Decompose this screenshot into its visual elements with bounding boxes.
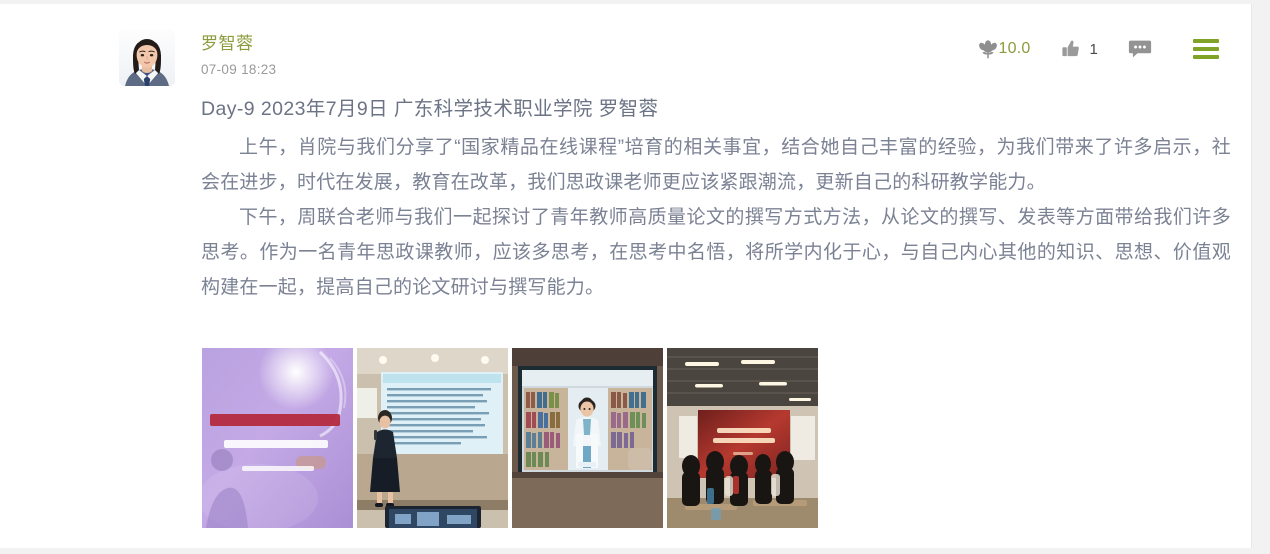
like-count: 1 bbox=[1089, 41, 1098, 58]
score-value: 10.0 bbox=[999, 40, 1031, 58]
hamburger-bar bbox=[1193, 39, 1219, 43]
thumbs-up-icon bbox=[1060, 38, 1082, 60]
post-card: 罗智蓉 07-09 18:23 bbox=[0, 4, 1252, 548]
photo-thumbnail[interactable] bbox=[667, 348, 818, 528]
post-actions: 10.0 1 bbox=[978, 32, 1252, 66]
author-name[interactable]: 罗智蓉 bbox=[201, 32, 276, 56]
avatar[interactable] bbox=[119, 30, 175, 86]
post-header: 罗智蓉 07-09 18:23 bbox=[0, 4, 1251, 90]
post-timestamp: 07-09 18:23 bbox=[201, 60, 276, 80]
slide-guojia-jingpin-zaixian-kecheng-image bbox=[202, 348, 353, 528]
photo-thumbnail[interactable] bbox=[512, 348, 663, 528]
comment-stat[interactable] bbox=[1128, 35, 1159, 63]
post-paragraph: 上午，肖院与我们分享了“国家精品在线课程”培育的相关事宜，结合她自己丰富的经验，… bbox=[201, 130, 1231, 200]
score-stat[interactable]: 10.0 bbox=[978, 35, 1031, 63]
hamburger-bar bbox=[1193, 47, 1219, 51]
hamburger-bar bbox=[1193, 55, 1219, 59]
projection-screen-video-speaker-image bbox=[512, 348, 663, 528]
photo-thumbnail[interactable] bbox=[202, 348, 353, 528]
flower-icon bbox=[978, 38, 998, 60]
page-root: 罗智蓉 07-09 18:23 bbox=[0, 0, 1270, 554]
comment-bubble-icon bbox=[1128, 38, 1152, 60]
like-stat[interactable]: 1 bbox=[1060, 35, 1098, 63]
hamburger-menu-icon[interactable] bbox=[1193, 39, 1219, 59]
audience-seated-facing-red-slide-image bbox=[667, 348, 818, 528]
photo-strip bbox=[202, 348, 818, 528]
page-title: Day-9 2023年7月9日 广东科学技术职业学院 罗智蓉 bbox=[201, 94, 1231, 124]
speaker-presenting-at-lecture-hall-image bbox=[357, 348, 508, 528]
post-body: Day-9 2023年7月9日 广东科学技术职业学院 罗智蓉 上午，肖院与我们分… bbox=[201, 94, 1231, 305]
photo-thumbnail[interactable] bbox=[357, 348, 508, 528]
author-block: 罗智蓉 07-09 18:23 bbox=[201, 32, 276, 80]
post-paragraph: 下午，周联合老师与我们一起探讨了青年教师高质量论文的撰写方式方法，从论文的撰写、… bbox=[201, 200, 1231, 305]
user-portrait-photo-icon bbox=[119, 30, 175, 86]
